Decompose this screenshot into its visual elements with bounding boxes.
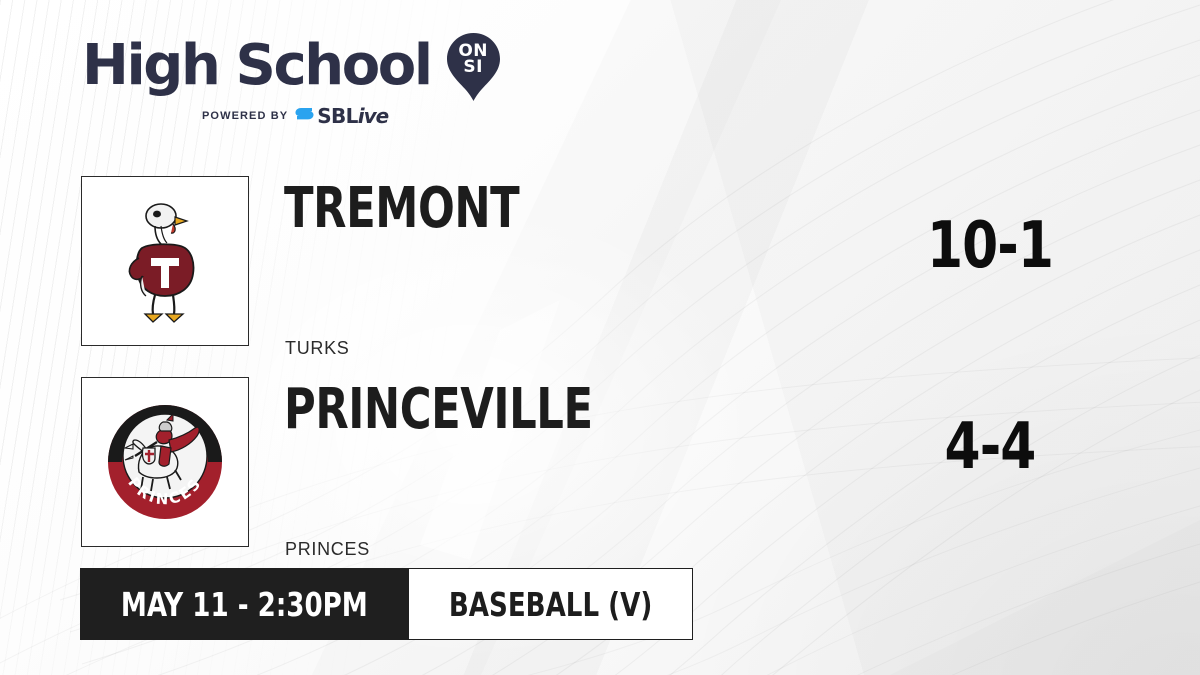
team-logo-box-tremont [81,176,249,346]
brand-logo-row: High School ON SI [82,34,512,98]
pin-text-si: SI [445,59,502,75]
team-name-tremont: TREMONT [284,180,519,238]
sblive-logo: SBLive [295,106,388,126]
brand-header: High School ON SI POWERED BY SBLive [82,34,512,138]
on-si-pin-icon: ON SI [445,32,502,102]
game-datetime-chip: MAY 11 - 2:30PM [80,568,409,640]
team-record-princeville: 4-4 [873,415,1107,479]
team-logo-box-princeville: PRINCES [81,377,249,547]
game-datetime-label: MAY 11 - 2:30PM [121,588,368,621]
sblive-wordmark: SBLive [317,106,388,126]
sblive-italic: ive [358,104,388,128]
team-name-princeville: PRINCEVILLE [284,381,593,439]
game-sport-label: BASEBALL (V) [449,588,652,621]
princeville-princes-crest-logo-icon: PRINCES [103,400,227,524]
team-mascot-tremont: TURKS [285,338,350,358]
brand-wordmark: High School [82,38,431,94]
tremont-turks-mascot-logo-icon [115,196,215,326]
lightning-bolt-icon [295,107,314,125]
game-sport-chip: BASEBALL (V) [409,568,693,640]
powered-by-label: POWERED BY [202,110,288,122]
team-record-tremont: 10-1 [873,214,1107,278]
team-mascot-princeville: PRINCES [285,539,370,559]
sblive-bold: SBL [317,104,358,128]
scoreboard-graphic: High School ON SI POWERED BY SBLive [0,0,1200,675]
on-si-pin-label: ON SI [445,43,502,75]
game-info-bar: MAY 11 - 2:30PM BASEBALL (V) [80,568,693,640]
powered-by-row: POWERED BY SBLive [82,106,512,126]
